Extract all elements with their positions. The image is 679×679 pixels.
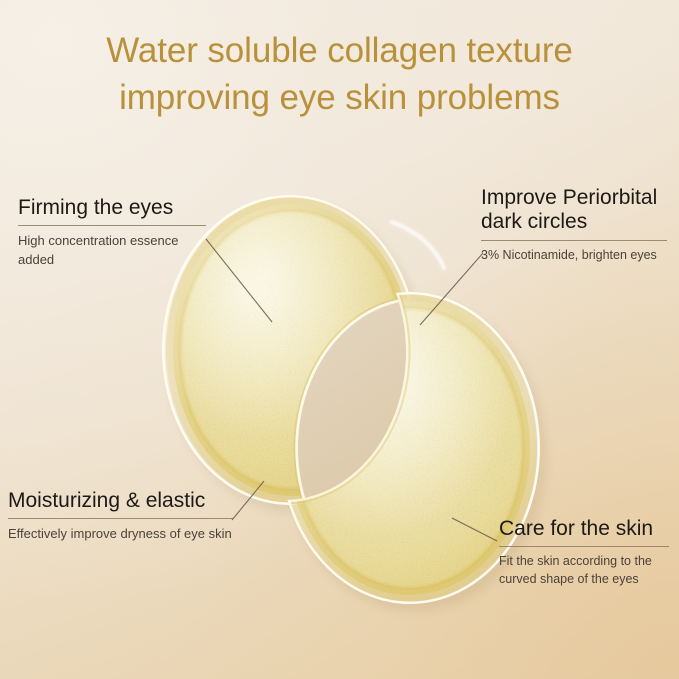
callout-heading: Firming the eyes <box>18 196 232 220</box>
callout-heading: Improve Periorbital dark circles <box>481 186 679 235</box>
callout-subtext: Fit the skin according to the curved sha… <box>499 553 679 589</box>
callout-subtext: Effectively improve dryness of eye skin <box>8 525 256 543</box>
callout-moisturizing-elastic: Moisturizing & elastic Effectively impro… <box>8 489 256 544</box>
callout-heading: Moisturizing & elastic <box>8 489 256 513</box>
callout-subtext: High concentration essence added <box>18 232 232 269</box>
product-image-canvas: Water soluble collagen texture improving… <box>0 0 679 679</box>
page-title: Water soluble collagen texture improving… <box>0 28 679 121</box>
callout-improve-dark-circles: Improve Periorbital dark circles 3% Nico… <box>481 186 679 264</box>
callout-underline <box>499 546 669 547</box>
callout-heading: Care for the skin <box>499 517 679 541</box>
callout-care-for-the-skin: Care for the skin Fit the skin according… <box>499 517 679 589</box>
callout-underline <box>18 225 206 226</box>
callout-underline <box>8 518 234 519</box>
callout-firming-the-eyes: Firming the eyes High concentration esse… <box>18 196 232 269</box>
callout-subtext: 3% Nicotinamide, brighten eyes <box>481 247 679 265</box>
callout-underline <box>481 240 667 241</box>
